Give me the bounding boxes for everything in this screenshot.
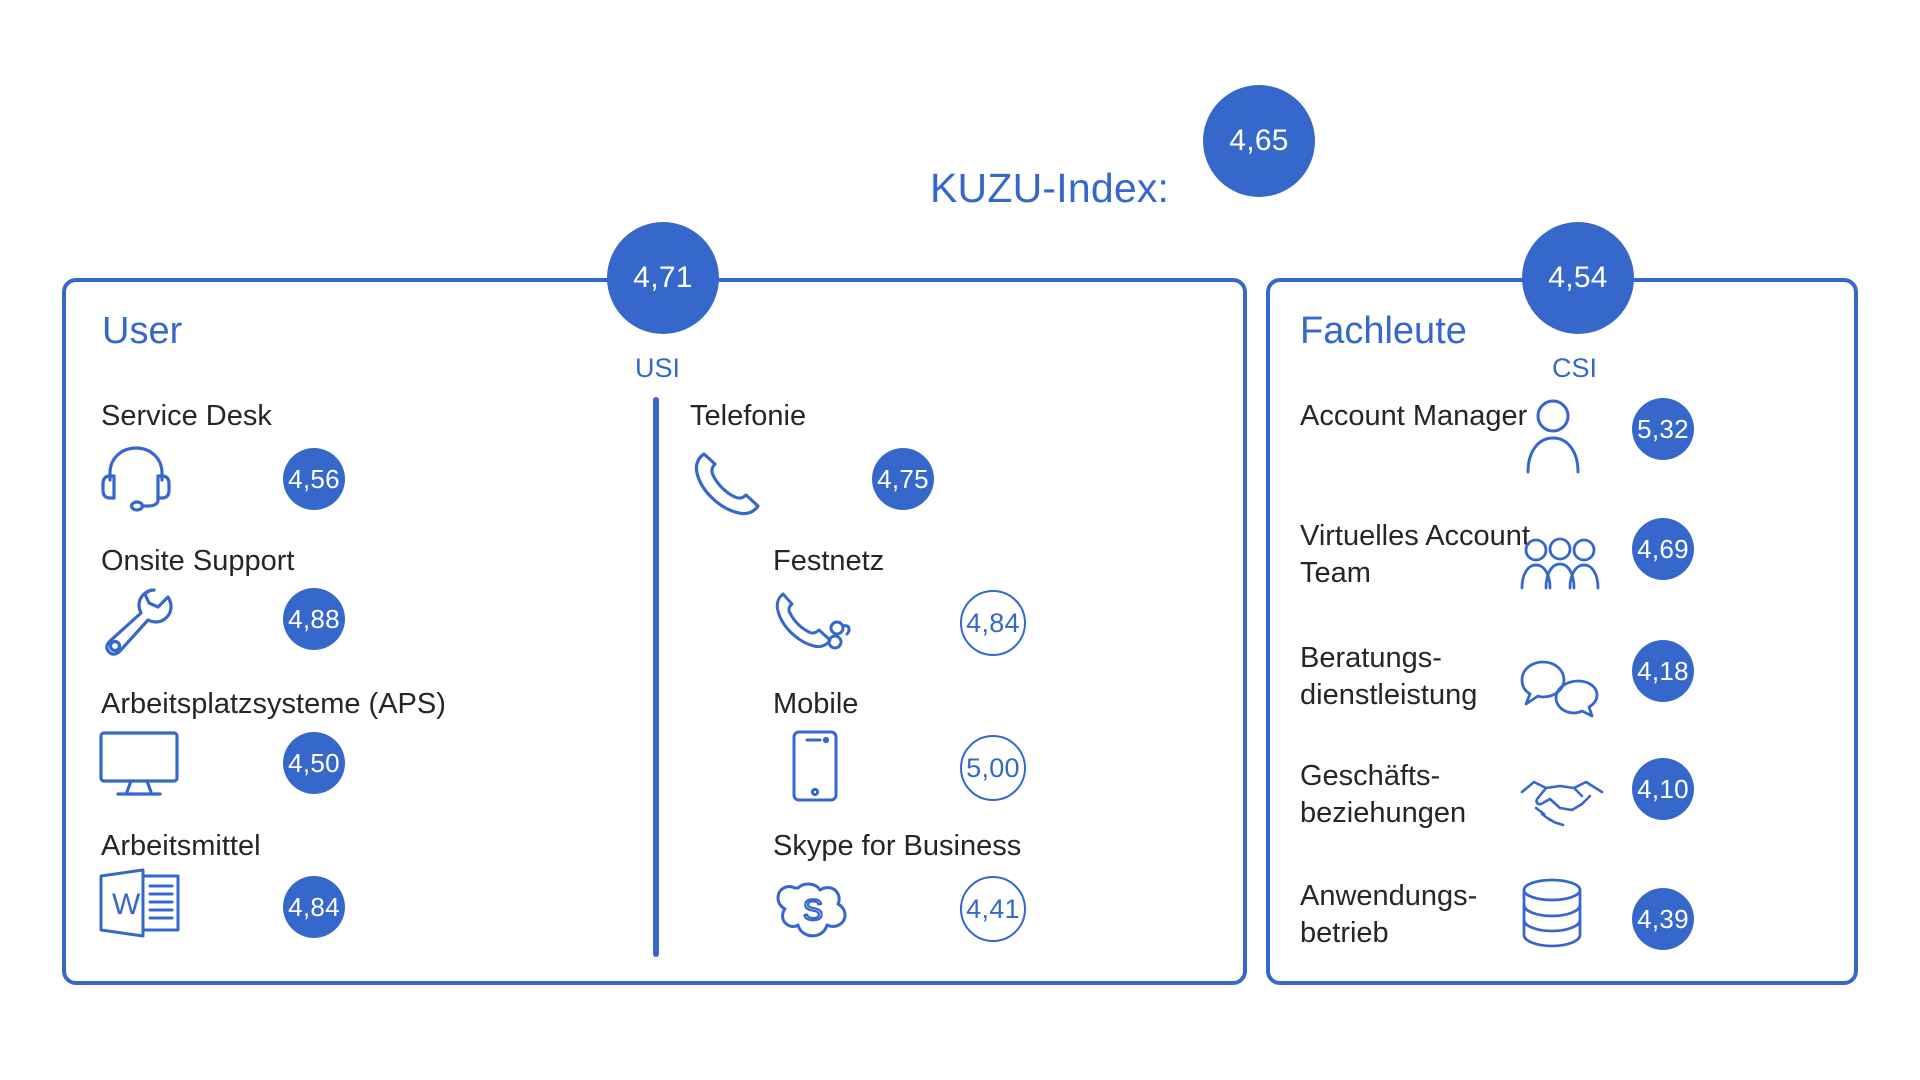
- smartphone-icon: [790, 730, 840, 802]
- score-beratungsdienstleistung: 4,18: [1632, 640, 1694, 702]
- svg-text:W: W: [112, 888, 141, 921]
- score-arbeitsplatzsysteme: 4,50: [283, 732, 345, 794]
- csi-column-label: CSI: [1552, 353, 1597, 384]
- item-label-skype-for-business: Skype for Business: [773, 828, 1021, 865]
- csi-index-badge: 4,54: [1522, 222, 1634, 334]
- item-label-service-desk: Service Desk: [101, 398, 272, 435]
- landline-phone-icon: [773, 590, 857, 658]
- kuzu-index-score: 4,65: [1203, 85, 1315, 197]
- score-festnetz: 4,84: [960, 590, 1026, 656]
- item-label-beratungsdienstleistung: Beratungs- dienstleistung: [1300, 640, 1530, 714]
- item-label-account-manager: Account Manager: [1300, 398, 1530, 435]
- score-anwendungsbetrieb: 4,39: [1632, 888, 1694, 950]
- wrench-icon: [98, 586, 176, 658]
- score-skype-for-business: 4,41: [960, 876, 1026, 942]
- headset-icon: [98, 440, 178, 512]
- score-arbeitsmittel: 4,84: [283, 876, 345, 938]
- score-geschaeftsbeziehungen: 4,10: [1632, 758, 1694, 820]
- page-title: KUZU-Index:: [930, 165, 1169, 212]
- word-document-icon: W: [98, 868, 184, 938]
- person-icon: [1520, 398, 1586, 474]
- skype-icon: S: [773, 872, 857, 942]
- score-service-desk: 4,56: [283, 448, 345, 510]
- handshake-icon: [1520, 778, 1604, 830]
- item-label-telefonie: Telefonie: [690, 398, 806, 435]
- phone-handset-icon: [690, 448, 774, 520]
- usi-divider: [653, 397, 659, 957]
- item-label-arbeitsmittel: Arbeitsmittel: [101, 828, 261, 865]
- svg-text:S: S: [803, 894, 823, 927]
- people-group-icon: [1520, 538, 1600, 590]
- item-label-anwendungsbetrieb: Anwendungs- betrieb: [1300, 878, 1530, 952]
- usi-column-label: USI: [635, 353, 680, 384]
- score-telefonie: 4,75: [872, 448, 934, 510]
- monitor-icon: [98, 730, 182, 798]
- item-label-virtuelles-account-team: Virtuelles Account Team: [1300, 518, 1530, 592]
- item-label-mobile: Mobile: [773, 686, 858, 723]
- panel-fachleute-heading: Fachleute: [1300, 310, 1467, 353]
- score-account-manager: 5,32: [1632, 398, 1694, 460]
- usi-index-badge: 4,71: [607, 222, 719, 334]
- item-label-geschaeftsbeziehungen: Geschäfts- beziehungen: [1300, 758, 1530, 832]
- score-virtuelles-account-team: 4,69: [1632, 518, 1694, 580]
- speech-bubbles-icon: [1520, 660, 1600, 716]
- panel-user-heading: User: [102, 310, 182, 353]
- item-label-festnetz: Festnetz: [773, 543, 884, 580]
- score-onsite-support: 4,88: [283, 588, 345, 650]
- database-icon: [1520, 878, 1584, 948]
- item-label-arbeitsplatzsysteme: Arbeitsplatzsysteme (APS): [101, 686, 446, 723]
- item-label-onsite-support: Onsite Support: [101, 543, 294, 580]
- score-mobile: 5,00: [960, 735, 1026, 801]
